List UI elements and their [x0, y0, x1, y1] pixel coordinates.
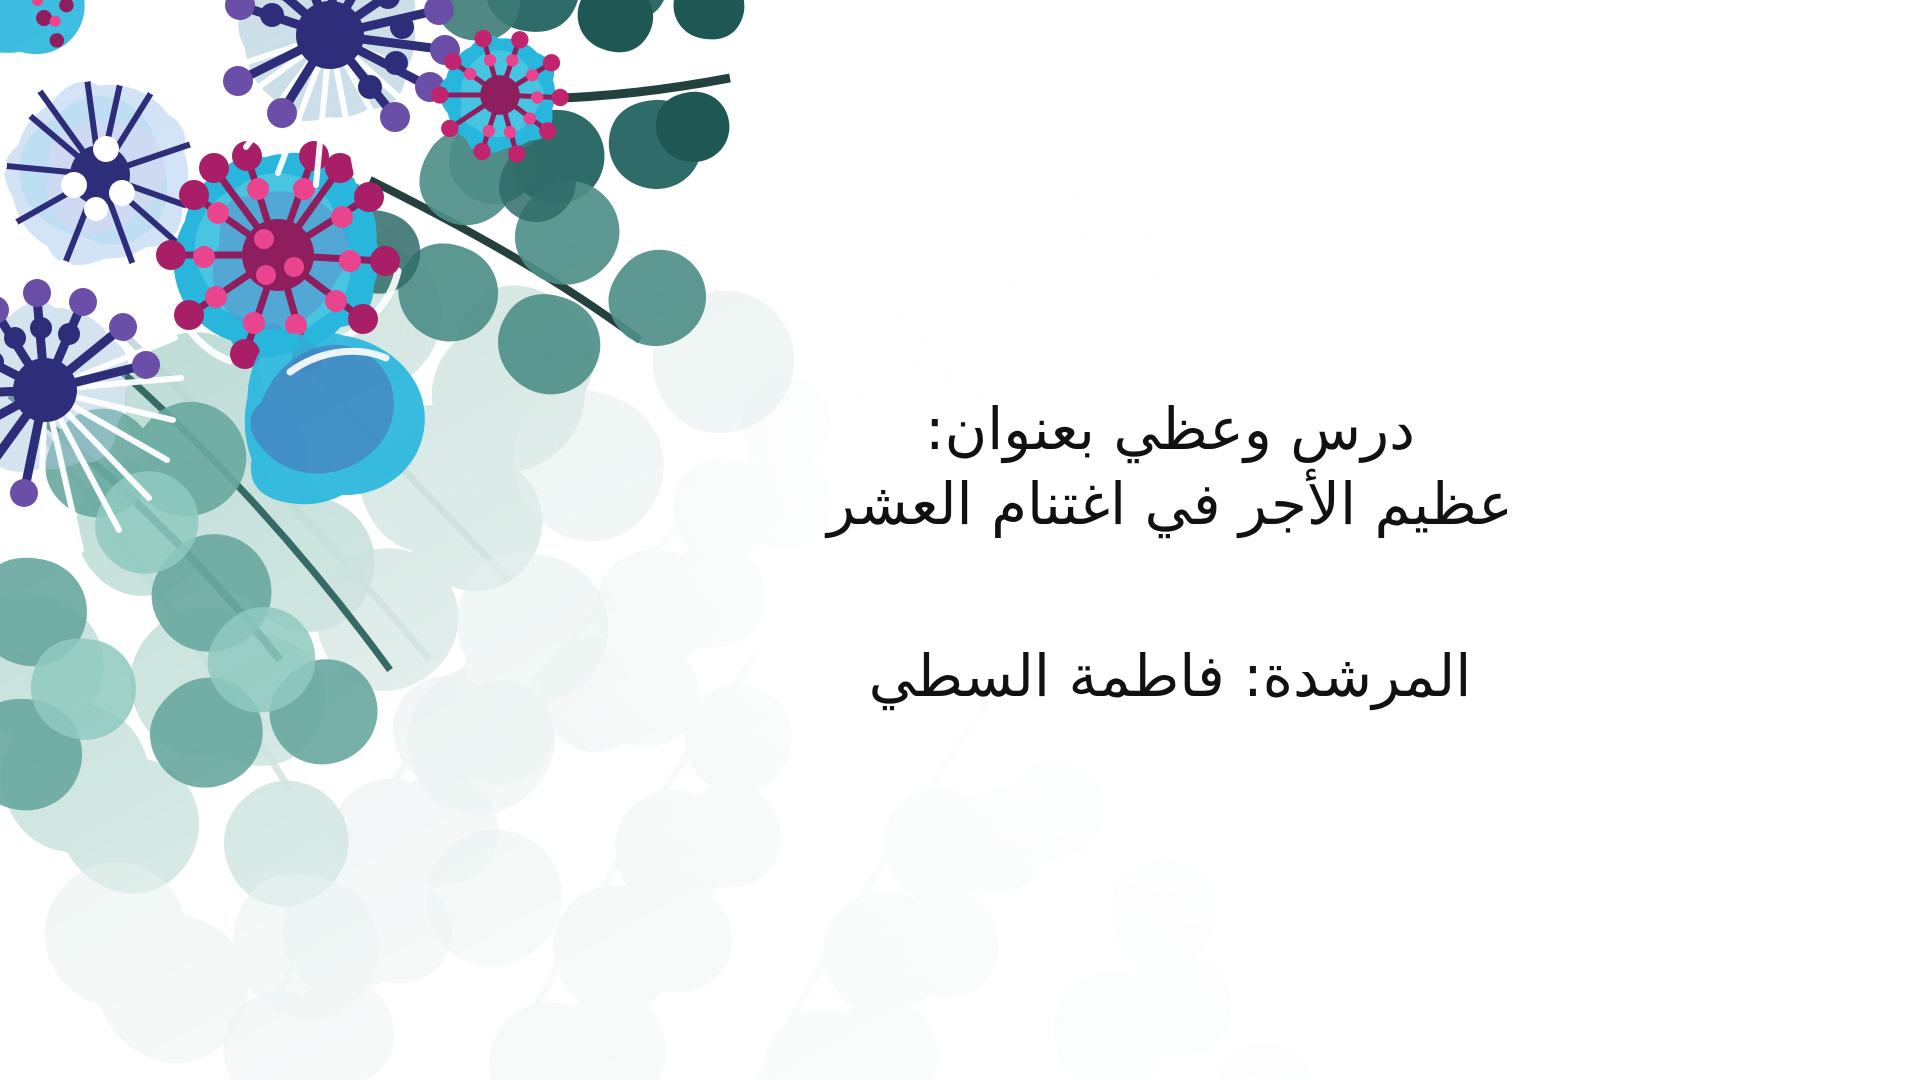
title-line-1: درس وعظي بعنوان:: [760, 392, 1580, 467]
clipped-blossom-corner: [0, 0, 103, 73]
pale-blue-blossom: [0, 53, 217, 290]
presentation-slide: درس وعظي بعنوان: عظيم الأجر في اغتنام ال…: [0, 0, 1920, 1080]
text-spacer: [760, 543, 1580, 639]
navy-blossom-lower-left: [0, 278, 181, 556]
presenter-line: المرشدة: فاطمة السطي: [760, 639, 1580, 714]
title-line-2: عظيم الأجر في اغتنام العشر: [760, 467, 1580, 542]
small-cyan-blossom-right: [426, 17, 574, 163]
cyan-blossom-main: [145, 120, 412, 380]
blue-petal-mass-lower: [213, 297, 453, 529]
slide-text-block: درس وعظي بعنوان: عظيم الأجر في اغتنام ال…: [760, 392, 1580, 714]
navy-blossom-top: [220, 0, 472, 185]
